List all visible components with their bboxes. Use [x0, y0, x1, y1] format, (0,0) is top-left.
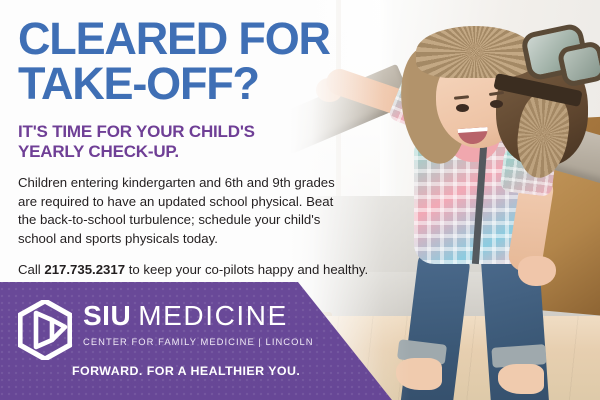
child-eye-right [490, 100, 503, 108]
aviator-cap-fur-trim [416, 26, 534, 78]
call-to-action: Call 217.735.2317 to keep your co-pilots… [18, 261, 378, 279]
child-hand-right [518, 256, 556, 286]
siu-medicine-logo[interactable]: SIU MEDICINE CENTER FOR FAMILY MEDICINE … [18, 300, 314, 360]
child-foot-left [396, 358, 442, 390]
child-eye-left [456, 104, 469, 112]
brand-tagline: FORWARD. FOR A HEALTHIER YOU. [72, 364, 300, 378]
cta-prefix: Call [18, 262, 44, 277]
siu-hexagon-logo-icon [18, 300, 72, 360]
copy-block: CLEARED FOR TAKE-OFF? IT'S TIME FOR YOUR… [18, 16, 378, 279]
body-paragraph: Children entering kindergarten and 6th a… [18, 174, 348, 248]
logo-brand-secondary: MEDICINE [138, 302, 288, 330]
logo-wordmark: SIU MEDICINE [83, 302, 314, 330]
logo-wordmark-group: SIU MEDICINE CENTER FOR FAMILY MEDICINE … [83, 300, 314, 347]
child-foot-right [498, 364, 544, 394]
subheadline: IT'S TIME FOR YOUR CHILD'S YEARLY CHECK-… [18, 122, 378, 162]
advertisement-banner: CLEARED FOR TAKE-OFF? IT'S TIME FOR YOUR… [0, 0, 600, 400]
cta-suffix: to keep your co-pilots happy and healthy… [125, 262, 368, 277]
phone-number[interactable]: 217.735.2317 [44, 262, 125, 277]
logo-brand-primary: SIU [83, 302, 131, 330]
headline: CLEARED FOR TAKE-OFF? [18, 16, 378, 106]
logo-department: CENTER FOR FAMILY MEDICINE | LINCOLN [83, 336, 314, 347]
